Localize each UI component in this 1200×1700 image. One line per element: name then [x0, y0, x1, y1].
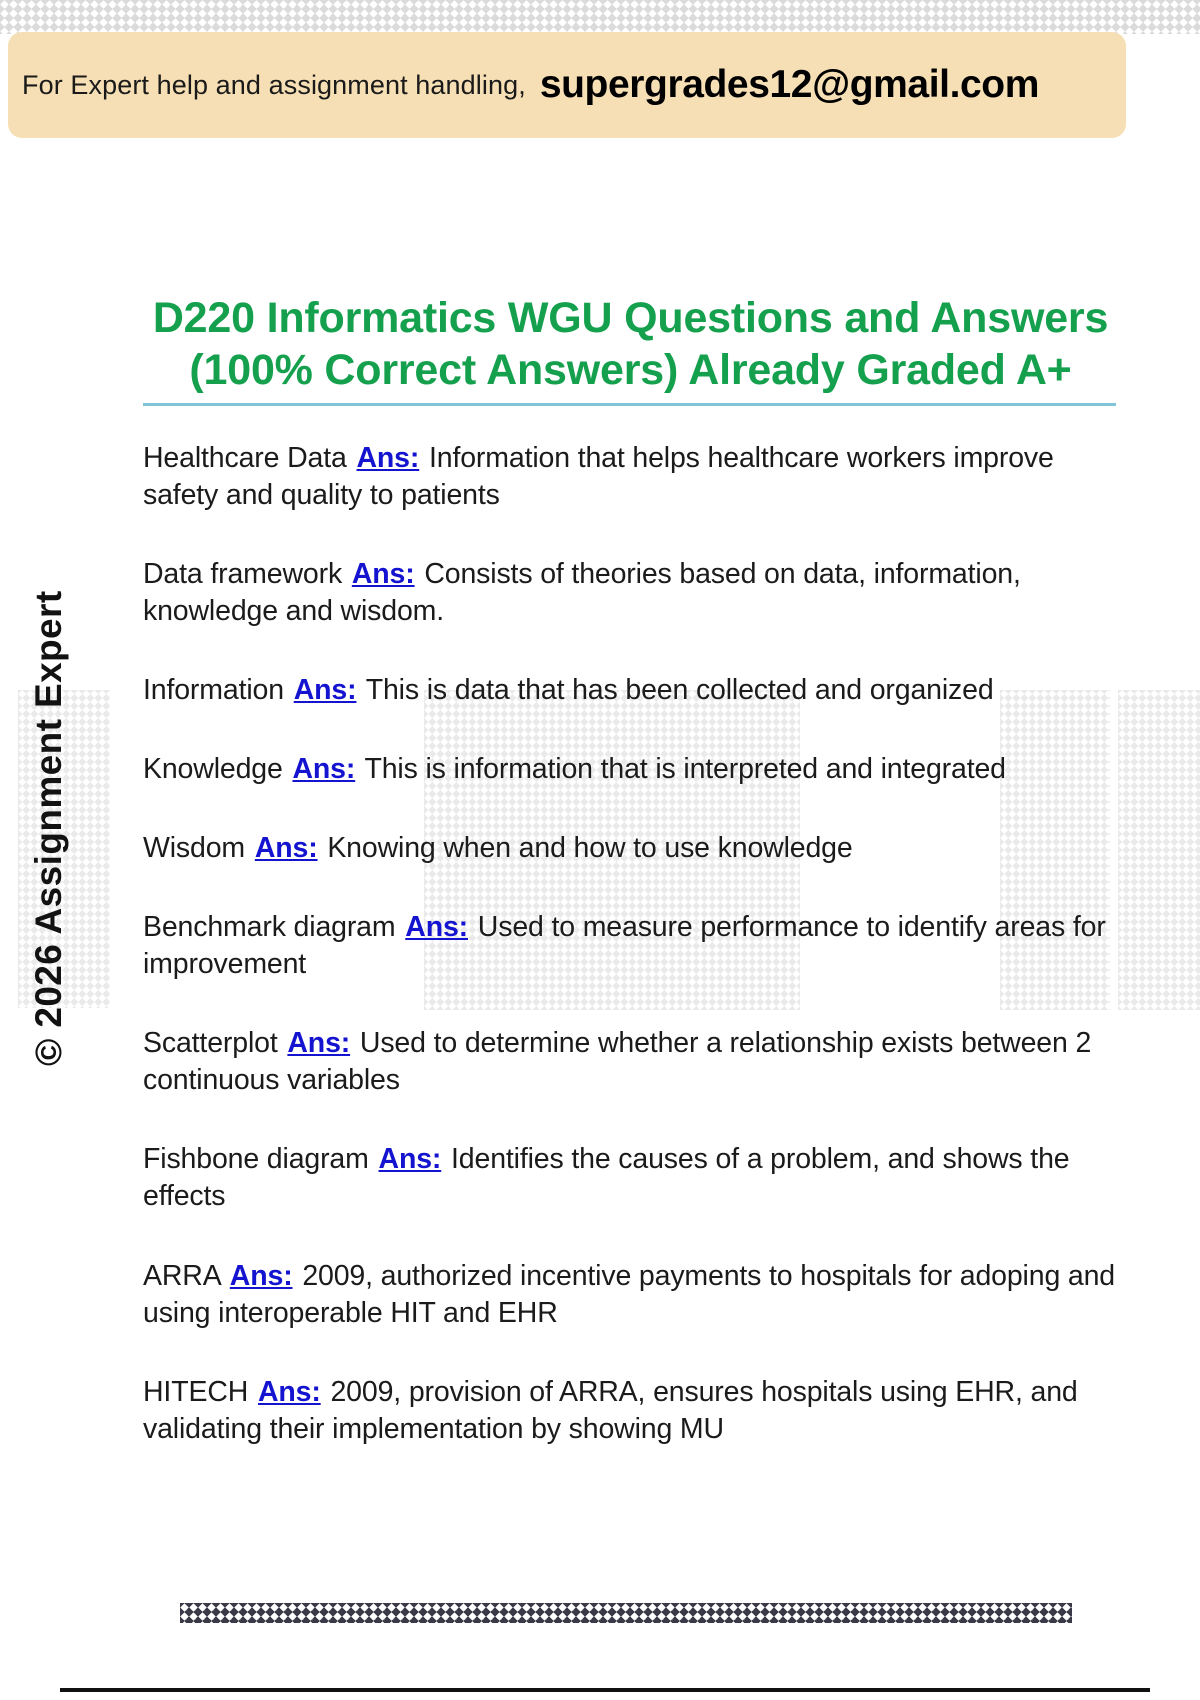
qa-term: ARRA — [143, 1260, 220, 1292]
qa-answer-label: Ans: — [350, 558, 417, 590]
page-title-line-1: D220 Informatics WGU Questions and Answe… — [153, 294, 1108, 342]
qa-list: Healthcare Data Ans: Information that he… — [143, 440, 1153, 1448]
qa-answer-label: Ans: — [377, 1143, 444, 1175]
header-banner: For Expert help and assignment handling,… — [8, 32, 1126, 138]
banner-lead-text: For Expert help and assignment handling, — [22, 70, 526, 101]
qa-answer-label: Ans: — [228, 1260, 295, 1292]
qa-term: Information — [143, 674, 284, 706]
qa-term: HITECH — [143, 1376, 248, 1408]
qa-answer-label: Ans: — [256, 1376, 323, 1408]
qa-answer-label: Ans: — [403, 911, 470, 943]
qa-term: Wisdom — [143, 832, 245, 864]
top-texture-strip — [0, 0, 1200, 34]
qa-term: Data framework — [143, 558, 342, 590]
qa-answer-label: Ans: — [292, 674, 359, 706]
qa-entry: Benchmark diagram Ans: Used to measure p… — [143, 909, 1123, 983]
qa-entry: Information Ans: This is data that has b… — [143, 672, 1123, 709]
qa-term: Healthcare Data — [143, 442, 347, 474]
qa-answer-label: Ans: — [354, 442, 421, 474]
document-content: D220 Informatics WGU Questions and Answe… — [143, 292, 1153, 1448]
qa-entry: HITECH Ans: 2009, provision of ARRA, ens… — [143, 1374, 1123, 1448]
qa-term: Benchmark diagram — [143, 911, 395, 943]
qa-entry: Data framework Ans: Consists of theories… — [143, 556, 1123, 630]
zigzag-divider — [180, 1603, 1072, 1623]
document-page: For Expert help and assignment handling,… — [0, 0, 1200, 1700]
title-underline-rule — [143, 403, 1116, 406]
qa-definition: Knowing when and how to use knowledge — [327, 832, 852, 864]
qa-entry: Fishbone diagram Ans: Identifies the cau… — [143, 1141, 1123, 1215]
bottom-rule — [60, 1688, 1150, 1692]
copyright-watermark: © 2026 Assignment Expert — [28, 596, 70, 1066]
qa-entry: Knowledge Ans: This is information that … — [143, 751, 1123, 788]
qa-answer-label: Ans: — [285, 1027, 352, 1059]
qa-entry: Healthcare Data Ans: Information that he… — [143, 440, 1123, 514]
qa-answer-label: Ans: — [253, 832, 320, 864]
page-title: D220 Informatics WGU Questions and Answe… — [143, 292, 1118, 397]
qa-entry: Wisdom Ans: Knowing when and how to use … — [143, 830, 1123, 867]
qa-definition: This is data that has been collected and… — [366, 674, 994, 706]
qa-term: Scatterplot — [143, 1027, 278, 1059]
qa-entry: Scatterplot Ans: Used to determine wheth… — [143, 1025, 1123, 1099]
banner-email-address: supergrades12@gmail.com — [540, 63, 1039, 107]
qa-answer-label: Ans: — [290, 753, 357, 785]
page-title-line-2: (100% Correct Answers) Already Graded A+ — [189, 346, 1071, 394]
qa-entry: ARRA Ans: 2009, authorized incentive pay… — [143, 1258, 1123, 1332]
qa-term: Fishbone diagram — [143, 1143, 369, 1175]
qa-term: Knowledge — [143, 753, 283, 785]
qa-definition: This is information that is interpreted … — [364, 753, 1005, 785]
